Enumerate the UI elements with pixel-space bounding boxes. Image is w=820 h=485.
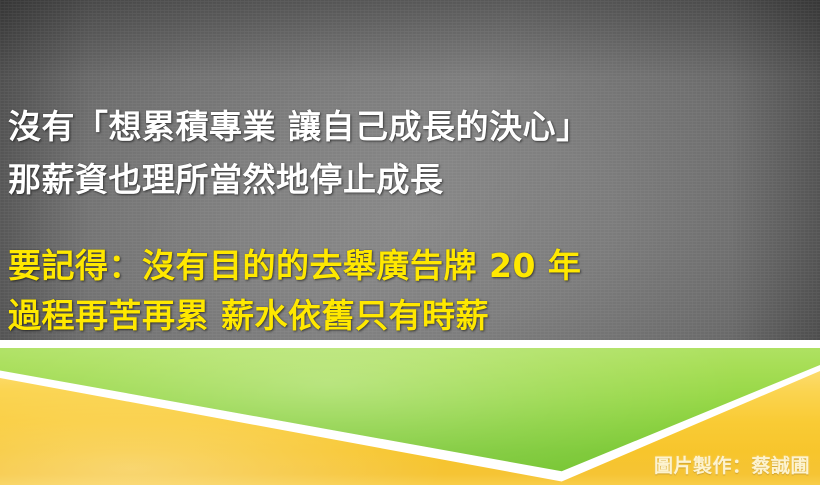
slide-canvas: 沒有「想累積專業 讓自己成長的決心」 那薪資也理所當然地停止成長 要記得：沒有目… xyxy=(0,0,820,485)
headline-line-1: 沒有「想累積專業 讓自己成長的決心」 xyxy=(8,110,590,143)
image-credit: 圖片製作：蔡誠圃 xyxy=(654,451,810,478)
highlight-line-2: 過程再苦再累 薪水依舊只有時薪 xyxy=(8,299,489,332)
headline-line-2: 那薪資也理所當然地停止成長 xyxy=(8,163,444,196)
text-block: 沒有「想累積專業 讓自己成長的決心」 那薪資也理所當然地停止成長 要記得：沒有目… xyxy=(0,0,820,348)
bottom-banner: 圖片製作：蔡誠圃 xyxy=(0,340,820,485)
highlight-line-1: 要記得：沒有目的的去舉廣告牌 20 年 xyxy=(8,249,581,282)
